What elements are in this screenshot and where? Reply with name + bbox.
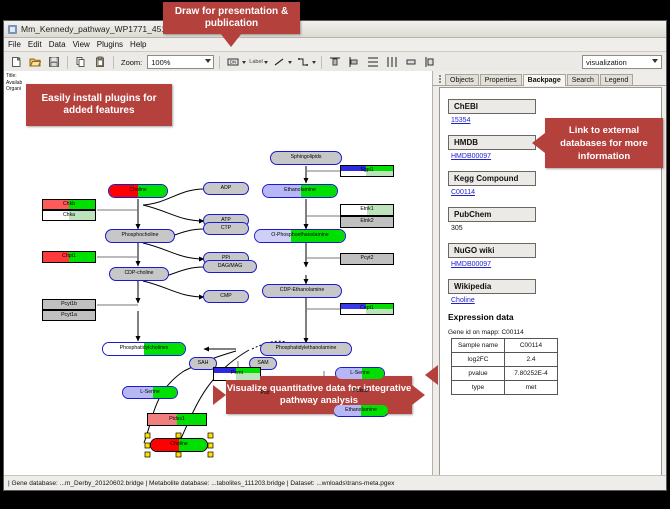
node-label: Phosphatidylcholines [120,346,169,351]
panel-drag-handle[interactable] [439,73,443,85]
node-o-phosphoethanolamine[interactable]: O-Phosphoethanolamine [254,229,346,243]
db-header-wikipedia: Wikipedia [448,279,536,294]
node-ethanolamine-bottom[interactable]: Ethanolamine [333,404,389,417]
cell-value: C00114 [505,339,558,353]
label-tool[interactable]: Label [249,59,267,65]
gene-id-label: Gene id on mapp: C00114 [448,329,655,336]
cell-name: Sample name [452,339,505,353]
db-entry-pubchem: PubChem 305 [448,204,655,232]
table-row: Sample name C00114 [452,339,558,353]
table-row: log2FC 2.4 [452,353,558,367]
toolbar-separator [321,56,322,69]
line-icon[interactable] [271,54,287,70]
tab-label: Search [572,77,594,84]
node-adp[interactable]: ADP [203,182,249,195]
zoom-combobox[interactable]: 100% [147,55,214,69]
chevron-down-icon[interactable] [264,61,268,64]
node-ethanolamine-top[interactable]: Ethanolamine [262,184,338,198]
node-label: Etnk1 [360,207,373,212]
node-label: CDP-choline [124,271,153,276]
node-cdp-choline[interactable]: CDP-choline [109,267,169,281]
side-panel-tabs: Objects Properties Backpage Search Legen… [433,71,666,86]
chevron-down-icon [652,59,658,63]
title-bar: Mm_Kennedy_pathway_WP1771_45176.gpml [4,21,666,38]
menu-bar: File Edit Data View Plugins Help [4,38,666,52]
align-top-icon[interactable] [327,54,343,70]
visualization-combobox-wrap: visualization [582,55,662,69]
cell-name: pvalue [452,367,505,381]
pathway-canvas[interactable]: Title: Availab Organi [4,71,432,473]
callout-links-text: Link to external databases for more info… [545,124,663,163]
node-label: SAH [198,361,209,366]
application-window: Mm_Kennedy_pathway_WP1771_45176.gpml Fil… [3,20,667,491]
callout-draw-arrow [220,33,242,47]
cell-value: 7.80252E-4 [505,367,558,381]
node-label: Sgpl1 [360,168,373,173]
chevron-down-icon[interactable] [242,61,246,64]
copy-icon[interactable] [73,54,89,70]
db-header-nugo: NuGO wiki [448,243,536,258]
db-entry-kegg: Kegg Compound C00114 [448,168,655,196]
node-sgpl1[interactable]: Sgpl1 [340,165,394,177]
node-pcyt1b[interactable]: Pcyt1b [42,299,96,310]
distribute-horizontal-icon[interactable] [384,54,400,70]
callout-links: Link to external databases for more info… [545,118,663,168]
expression-data-title: Expression data [448,312,655,322]
new-document-icon[interactable] [8,54,24,70]
node-label: Ethanolamine [284,188,316,193]
common-height-icon[interactable] [422,54,438,70]
node-etnk2[interactable]: Etnk2 [340,216,394,228]
cell-name: log2FC [452,353,505,367]
node-label: L-Serine [350,371,370,376]
distribute-vertical-icon[interactable] [365,54,381,70]
callout-plugins-text: Easily install plugins for added feature… [26,93,172,117]
db-header-hmdb: HMDB [448,135,536,150]
tab-label: Objects [450,77,474,84]
node-cmp[interactable]: CMP [203,290,249,303]
zoom-label: Zoom: [121,58,142,67]
node-label: Pemt [231,371,243,376]
node-phosphocholine[interactable]: Phosphocholine [105,229,175,243]
menu-item-view[interactable]: View [73,40,90,49]
align-left-icon[interactable] [346,54,362,70]
tab-backpage[interactable]: Backpage [523,74,566,86]
node-label: L-Serine [140,390,160,395]
node-phosphatidylcholines[interactable]: Phosphatidylcholines [102,342,186,356]
datanode-tool[interactable]: DN [225,54,246,70]
callout-draw-text: Draw for presentation & publication [163,6,300,30]
tab-legend[interactable]: Legend [600,74,633,85]
db-entry-nugo: NuGO wiki HMDB00097 [448,240,655,268]
tab-objects[interactable]: Objects [445,74,479,85]
callout-links-arrow-lower [425,365,438,385]
db-link-kegg[interactable]: C00114 [451,189,655,196]
connector-icon[interactable] [295,54,311,70]
cell-value: met [505,381,558,395]
visualization-combobox[interactable]: visualization [582,55,662,69]
svg-text:DN: DN [230,60,237,65]
menu-item-file[interactable]: File [8,40,21,49]
db-entry-wikipedia: Wikipedia Choline [448,276,655,304]
node-label: Chkb [63,202,75,207]
node-label: Cept1 [360,306,374,311]
app-icon [8,25,17,34]
status-text: | Gene database: ...m_Derby_20120602.bri… [8,480,394,487]
chevron-down-icon[interactable] [312,61,316,64]
node-l-serine-right[interactable]: L-Serine [335,367,385,380]
tab-properties[interactable]: Properties [480,74,522,85]
connector-tool[interactable] [295,54,316,70]
canvas-pane: Title: Availab Organi [4,71,433,490]
node-choline-top[interactable]: Choline [108,184,168,198]
table-row: pvalue 7.80252E-4 [452,367,558,381]
open-folder-icon[interactable] [27,54,43,70]
node-l-serine-left[interactable]: L-Serine [122,386,178,399]
cell-value: 2.4 [505,353,558,367]
node-cdp-ethanolamine[interactable]: CDP-Ethanolamine [262,284,342,298]
db-header-pubchem: PubChem [448,207,536,222]
tool-bar: Zoom: 100% DN Label [4,52,666,73]
node-cept1[interactable]: Cept1 [340,303,394,315]
node-label: CTP [221,226,231,231]
node-pcyt1a[interactable]: Pcyt1a [42,310,96,321]
callout-visualize-text: Visualize quantitative data for integrat… [226,383,412,407]
node-chpt1[interactable]: Chpt1 [42,251,96,263]
node-label: Etnk2 [360,219,373,224]
table-row: type met [452,381,558,395]
node-etnk1[interactable]: Etnk1 [340,204,394,216]
node-label: Chka [63,213,75,218]
node-label: CMP [220,294,232,299]
menu-item-data[interactable]: Data [49,40,66,49]
db-value-pubchem: 305 [451,225,655,232]
callout-links-arrow [532,133,545,153]
node-label: Ethanolamine [345,408,377,413]
node-ctp[interactable]: CTP [203,222,249,235]
callout-plugins: Easily install plugins for added feature… [26,84,172,126]
node-ptdss1[interactable]: Ptdss1 [147,413,207,426]
db-header-chebi: ChEBI [448,99,536,114]
tab-label: Properties [485,77,517,84]
toolbar-separator [67,56,68,69]
node-phosphatidylethanolamine[interactable]: Phosphatidylethanolamine [260,342,352,356]
node-label: O-Phosphoethanolamine [271,233,328,238]
tab-label: Legend [605,77,628,84]
node-label: Pcyt2 [361,256,374,261]
db-link-wikipedia[interactable]: Choline [451,297,655,304]
status-bar: | Gene database: ...m_Derby_20120602.bri… [4,475,666,490]
paste-icon[interactable] [92,54,108,70]
node-label: Ptdss1 [169,417,185,422]
chevron-down-icon[interactable] [288,61,292,64]
callout-visualize-arrow-right [412,385,425,405]
datanode-icon[interactable]: DN [225,54,241,70]
node-pcyt2[interactable]: Pcyt2 [340,253,394,265]
node-dagmag[interactable]: DAG/MAG [203,260,257,273]
label-tool-label: Label [249,59,262,65]
node-label: Pcyt1b [61,302,77,307]
line-tool[interactable] [271,54,292,70]
node-label: DAG/MAG [218,264,243,269]
node-label: Psd [261,391,270,396]
cell-name: type [452,381,505,395]
node-chkb[interactable]: Chkb [42,199,96,210]
node-choline-selected[interactable]: Choline [150,438,208,452]
node-label: PPi [222,256,230,261]
node-label: Ptdss2 [353,389,369,394]
visualization-value: visualization [586,58,627,67]
node-label: Phosphatidylethanolamine [276,346,337,351]
expression-table: Sample name C00114 log2FC 2.4 pvalue 7.8… [451,338,558,395]
node-label: Phosphocholine [122,233,159,238]
menu-item-plugins[interactable]: Plugins [97,40,123,49]
callout-draw: Draw for presentation & publication [163,2,300,34]
chevron-down-icon [205,59,211,63]
menu-item-help[interactable]: Help [130,40,146,49]
toolbar-separator [113,56,114,69]
tab-label: Backpage [528,77,561,84]
common-width-icon[interactable] [403,54,419,70]
zoom-value: 100% [151,58,170,67]
db-link-nugo[interactable]: HMDB00097 [451,261,655,268]
node-pemt[interactable]: Pemt [213,367,261,381]
node-label: CDP-Ethanolamine [280,288,324,293]
menu-item-edit[interactable]: Edit [28,40,42,49]
node-label: Chpt1 [62,254,76,259]
node-sphingolipids[interactable]: Sphingolipids [270,151,342,165]
node-label: Sphingolipids [291,155,322,160]
db-header-kegg: Kegg Compound [448,171,536,186]
node-label: ADP [221,186,232,191]
node-chka[interactable]: Chka [42,210,96,221]
node-label: Choline [170,442,188,447]
screen: Mm_Kennedy_pathway_WP1771_45176.gpml Fil… [0,0,670,509]
node-label: Pcyt1a [61,313,77,318]
callout-visualize-arrow-left [213,385,226,405]
node-label: SAM [257,361,268,366]
node-label: Choline [129,188,147,193]
tab-search[interactable]: Search [567,74,599,85]
toolbar-separator [219,56,220,69]
save-disk-icon[interactable] [46,54,62,70]
node-label: ATP [221,218,231,223]
